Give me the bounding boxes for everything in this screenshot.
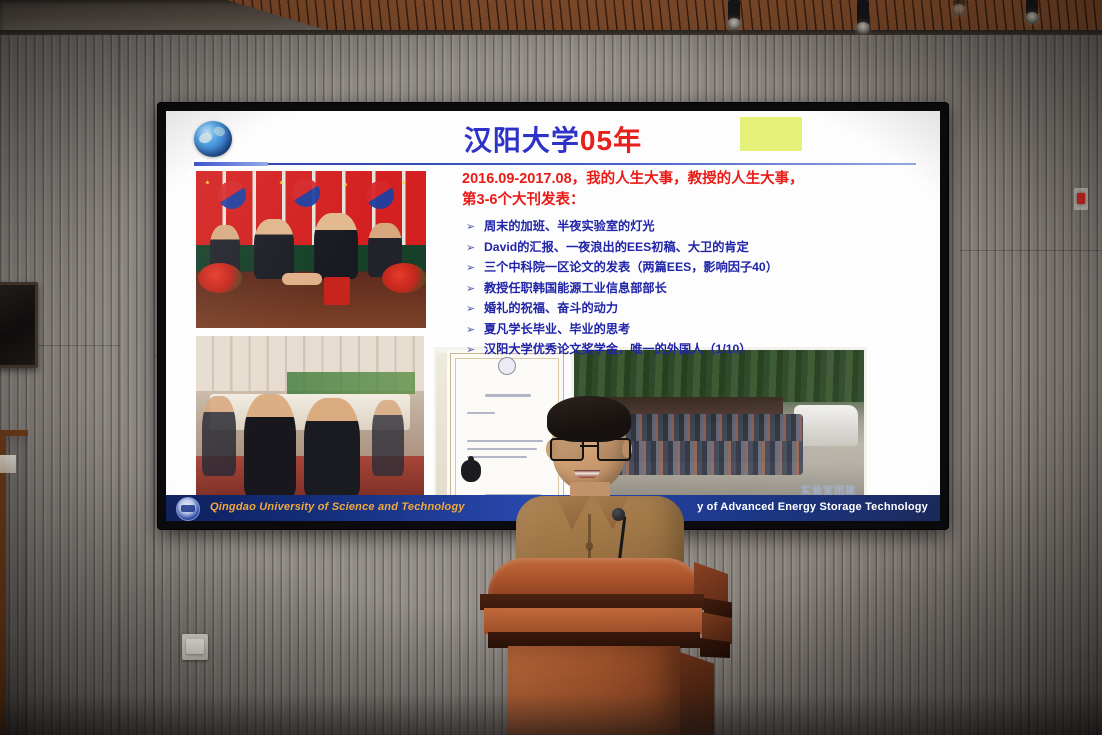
wall-light-switch[interactable] bbox=[182, 634, 208, 660]
person-figure bbox=[244, 394, 296, 498]
list-item-label: David的汇报、一夜浪出的EES初稿、大卫的肯定 bbox=[484, 240, 749, 255]
hair bbox=[547, 396, 631, 442]
track-light-icon bbox=[728, 0, 740, 22]
slide-bullet-list: ➢ 周末的加班、半夜实验室的灯光 ➢ David的汇报、一夜浪出的EES初稿、大… bbox=[466, 219, 936, 363]
list-item-label: 周末的加班、半夜实验室的灯光 bbox=[484, 219, 655, 234]
bullet-arrow-icon: ➢ bbox=[466, 260, 484, 276]
person-figure bbox=[304, 398, 360, 498]
white-car bbox=[794, 405, 858, 446]
slide-lead-text: 2016.09-2017.08，我的人生大事，教授的人生大事， 第3-6个大刊发… bbox=[462, 169, 932, 211]
handshake bbox=[282, 273, 322, 285]
track-light-icon bbox=[953, 0, 965, 8]
list-item-label: 汉阳大学优秀论文奖学金，唯一的外国人（1/10） bbox=[484, 342, 751, 357]
wall-monitor bbox=[0, 282, 38, 368]
glasses-icon bbox=[550, 438, 628, 458]
ceiling bbox=[0, 0, 1102, 34]
list-item-label: 教授任职韩国能源工业信息部部长 bbox=[484, 281, 667, 296]
wall-door-panel[interactable] bbox=[0, 430, 28, 735]
ceiling-wood-slats bbox=[200, 0, 1102, 30]
footer-left-text: Qingdao University of Science and Techno… bbox=[210, 501, 465, 513]
bullet-arrow-icon: ➢ bbox=[466, 219, 484, 235]
track-light-icon bbox=[857, 0, 869, 26]
mouth bbox=[574, 470, 600, 478]
university-seal bbox=[176, 497, 200, 521]
glasses-lens bbox=[597, 438, 631, 461]
wall-vseam bbox=[1028, 34, 1029, 734]
list-item: ➢ 夏凡学长毕业、毕业的思考 bbox=[466, 322, 936, 338]
list-item-label: 夏凡学长毕业、毕业的思考 bbox=[484, 322, 630, 337]
footer-right-text: y of Advanced Energy Storage Technology bbox=[697, 501, 928, 513]
person-figure bbox=[314, 213, 358, 279]
person-figure bbox=[202, 396, 236, 476]
person-figure bbox=[254, 219, 294, 279]
title-rule bbox=[194, 163, 916, 165]
list-item-label: 三个中科院一区论文的发表（两篇EES，影响因子40） bbox=[484, 260, 778, 275]
person-figure bbox=[372, 400, 404, 476]
microphone-icon bbox=[612, 508, 625, 521]
glasses-lens bbox=[550, 438, 584, 461]
track-light-icon bbox=[1026, 0, 1038, 16]
slide-title-main: 汉阳大学 bbox=[464, 125, 580, 156]
red-folder bbox=[324, 277, 350, 305]
flower-arrangement bbox=[382, 263, 426, 293]
flower-arrangement bbox=[198, 263, 242, 293]
shirt-button bbox=[586, 542, 593, 549]
wall-vseam bbox=[154, 34, 155, 734]
signing-ceremony-photo bbox=[196, 171, 426, 328]
lead-line-2: 第3-6个大刊发表： bbox=[462, 190, 932, 211]
list-item: ➢ 汉阳大学优秀论文奖学金，唯一的外国人（1/10） bbox=[466, 342, 936, 358]
bullet-arrow-icon: ➢ bbox=[466, 342, 484, 358]
ceiling-edge bbox=[0, 30, 1102, 35]
banquet-photo bbox=[196, 336, 424, 498]
wall-red-device[interactable] bbox=[1077, 193, 1085, 204]
lectern-top bbox=[488, 558, 702, 596]
glasses-bridge bbox=[580, 445, 598, 447]
greenery bbox=[287, 372, 415, 395]
door-highlight bbox=[0, 455, 16, 473]
list-item: ➢ 周末的加班、半夜实验室的灯光 bbox=[466, 219, 936, 235]
list-item: ➢ 教授任职韩国能源工业信息部部长 bbox=[466, 281, 936, 297]
bullet-arrow-icon: ➢ bbox=[466, 322, 484, 338]
certificate-text-line bbox=[467, 412, 495, 414]
bullet-arrow-icon: ➢ bbox=[466, 281, 484, 297]
lecture-hall-scene: 汉阳大学05年 bbox=[0, 0, 1102, 735]
list-item-label: 婚礼的祝福、奋斗的动力 bbox=[484, 301, 618, 316]
floor-shadow bbox=[0, 693, 1102, 735]
title-rule-accent bbox=[194, 162, 268, 166]
list-item: ➢ David的汇报、一夜浪出的EES初稿、大卫的肯定 bbox=[466, 240, 936, 256]
wall-seam bbox=[960, 250, 1102, 251]
slide-title-accent: 05年 bbox=[580, 125, 642, 156]
lead-line-1: 2016.09-2017.08，我的人生大事，教授的人生大事， bbox=[462, 169, 932, 190]
bullet-arrow-icon: ➢ bbox=[466, 240, 484, 256]
certificate-stamp bbox=[461, 460, 481, 482]
wall-vseam bbox=[118, 34, 119, 734]
list-item: ➢ 婚礼的祝福、奋斗的动力 bbox=[466, 301, 936, 317]
slide-title: 汉阳大学05年 bbox=[166, 119, 940, 159]
bullet-arrow-icon: ➢ bbox=[466, 301, 484, 317]
list-item: ➢ 三个中科院一区论文的发表（两篇EES，影响因子40） bbox=[466, 260, 936, 276]
lectern-mid bbox=[484, 608, 702, 634]
certificate-sidebar bbox=[436, 353, 450, 499]
